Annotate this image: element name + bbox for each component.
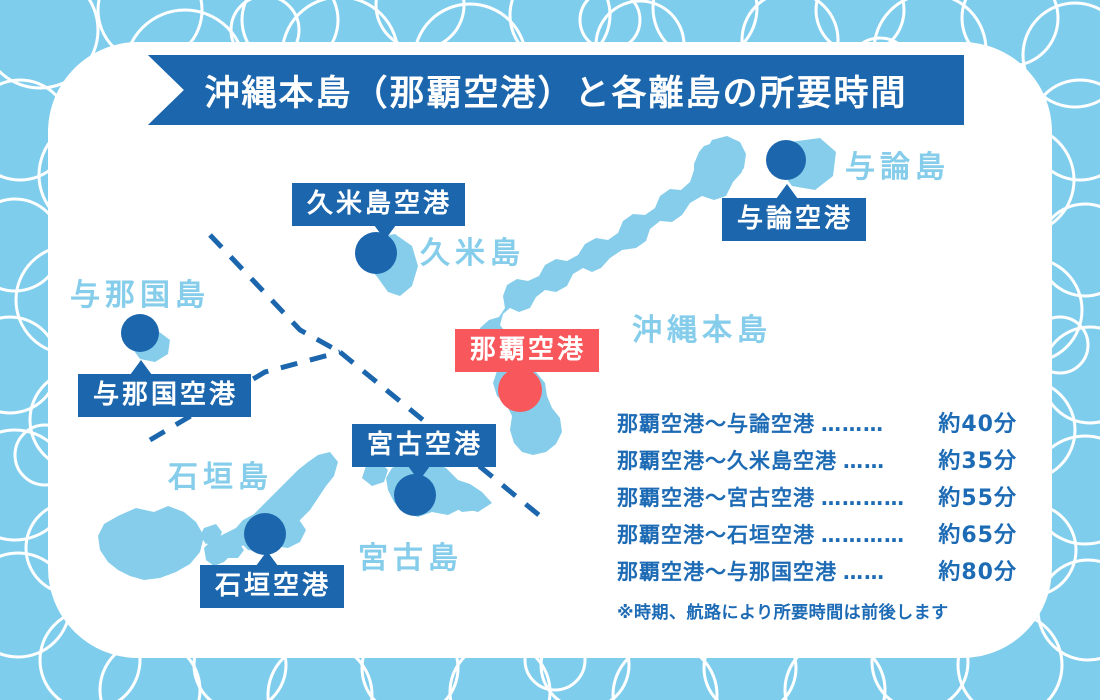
airport-marker-yoron[interactable] (766, 140, 806, 180)
legend-dot-leader: …… (843, 560, 932, 584)
airport-marker-yonaguni[interactable] (121, 314, 159, 352)
callout-pointer (776, 184, 798, 199)
legend-duration: 約40分 (938, 406, 1017, 438)
legend-duration: 約55分 (938, 480, 1017, 512)
callout-pointer (408, 466, 430, 481)
legend-route: 那覇空港〜与那国空港 (617, 556, 837, 586)
airport-callout-kumejima[interactable]: 久米島空港 (292, 183, 465, 226)
legend-footnote: ※時期、航路により所要時間は前後します (617, 598, 1017, 623)
legend-dot-leader: …… (843, 449, 932, 473)
legend-duration: 約65分 (938, 517, 1017, 549)
island-label-miyakojima: 宮古島 (358, 533, 463, 577)
legend-row: 那覇空港〜与論空港 ……… 約40分 (617, 406, 1017, 443)
page-title: 沖縄本島（那覇空港）と各離島の所要時間 (148, 55, 964, 125)
legend-row: 那覇空港〜宮古空港 ………… 約55分 (617, 480, 1017, 517)
flight-time-legend: 那覇空港〜与論空港 ……… 約40分 那覇空港〜久米島空港 …… 約35分 那覇… (617, 406, 1017, 623)
callout-pointer (510, 371, 532, 386)
legend-route: 那覇空港〜久米島空港 (617, 445, 837, 475)
airport-callout-ishigaki[interactable]: 石垣空港 (200, 565, 344, 608)
legend-row: 那覇空港〜与那国空港 …… 約80分 (617, 554, 1017, 591)
airport-label-text: 与那国空港 (78, 374, 251, 417)
island-label-yonagunijima: 与那国島 (70, 270, 210, 314)
callout-pointer (130, 360, 152, 375)
airport-callout-naha[interactable]: 那覇空港 (455, 329, 599, 372)
callout-pointer (374, 225, 396, 240)
airport-marker-ishigaki[interactable] (244, 513, 286, 555)
island-label-yoronto: 与論島 (845, 142, 950, 186)
airport-label-text: 宮古空港 (352, 424, 496, 467)
legend-route: 那覇空港〜石垣空港 (617, 519, 815, 549)
airport-label-text: 久米島空港 (292, 183, 465, 226)
island-label-okinawa-honto: 沖縄本島 (632, 305, 772, 349)
legend-row: 那覇空港〜久米島空港 …… 約35分 (617, 443, 1017, 480)
callout-pointer (256, 551, 278, 566)
legend-dot-leader: ……… (821, 412, 932, 436)
island-label-ishigakijima: 石垣島 (168, 452, 273, 496)
infographic-canvas: 沖縄本島（那覇空港）と各離島の所要時間 与那国島 石垣島 (0, 0, 1100, 700)
legend-duration: 約80分 (938, 554, 1017, 586)
airport-label-text: 与論空港 (722, 198, 866, 241)
airport-callout-yonaguni[interactable]: 与那国空港 (78, 374, 251, 417)
airport-callout-miyako[interactable]: 宮古空港 (352, 424, 496, 467)
legend-duration: 約35分 (938, 443, 1017, 475)
legend-dot-leader: ………… (821, 523, 932, 547)
airport-label-text: 那覇空港 (455, 329, 599, 372)
legend-route: 那覇空港〜宮古空港 (617, 482, 815, 512)
airport-label-text: 石垣空港 (200, 565, 344, 608)
legend-row: 那覇空港〜石垣空港 ………… 約65分 (617, 517, 1017, 554)
title-ribbon: 沖縄本島（那覇空港）と各離島の所要時間 (148, 55, 964, 125)
legend-dot-leader: ………… (821, 486, 932, 510)
island-label-kumejima: 久米島 (420, 228, 525, 272)
airport-callout-yoron[interactable]: 与論空港 (722, 198, 866, 241)
legend-route: 那覇空港〜与論空港 (617, 408, 815, 438)
